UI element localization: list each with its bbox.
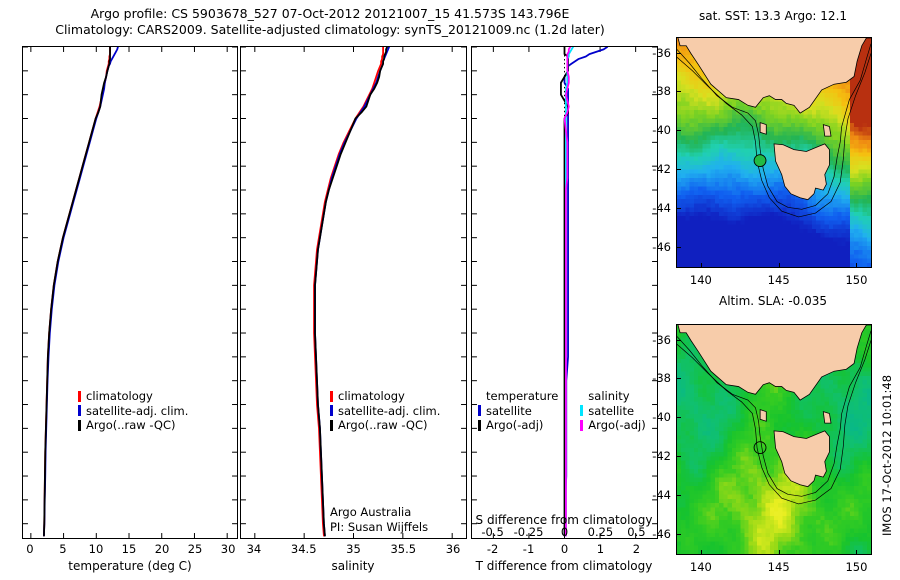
temperature-legend-item-row: climatology bbox=[78, 389, 188, 404]
difference-legend-item-row: Argo(-adj) bbox=[580, 418, 645, 433]
depth-tick-100: 100 bbox=[0, 63, 22, 77]
sst-map-lat-tick: -44 bbox=[652, 201, 676, 215]
sla-map-lat-tickmark bbox=[676, 417, 681, 418]
difference-legend-header: temperature bbox=[486, 389, 558, 404]
imos-timestamp: IMOS 17-Oct-2012 10:01:48 bbox=[880, 375, 894, 536]
depth-tick-800: 800 bbox=[0, 230, 22, 244]
salinity-plot-area bbox=[241, 47, 466, 538]
salinity-tick-34: 34 bbox=[247, 542, 262, 556]
sst-map-lat-tickmark bbox=[676, 53, 681, 54]
t-diff-tick-1: 1 bbox=[597, 542, 604, 556]
depth-tick-1400: 1400 bbox=[0, 374, 22, 388]
difference-legend-item-label: Argo(-adj) bbox=[486, 418, 543, 433]
temperature-legend-item-row: Argo(..raw -QC) bbox=[78, 418, 188, 433]
title-line-2: Climatology: CARS2009. Satellite-adjuste… bbox=[55, 22, 605, 37]
difference-legend-header: salinity bbox=[588, 389, 645, 404]
depth-tick-400: 400 bbox=[0, 135, 22, 149]
difference-legend-column: salinitysatelliteArgo(-adj) bbox=[580, 389, 645, 433]
sla-map-lat-tick: -40 bbox=[652, 410, 676, 424]
sla-map-lat-tickmark bbox=[676, 534, 681, 535]
difference-legend-columns: temperaturesatelliteArgo(-adj)salinitysa… bbox=[478, 389, 646, 433]
s-diff-tick-0: 0 bbox=[561, 525, 568, 539]
depth-tick-1200: 1200 bbox=[0, 326, 22, 340]
legend-color-swatch-icon bbox=[580, 420, 583, 431]
temperature-panel bbox=[22, 46, 238, 539]
salinity-legend-item-row: climatology bbox=[330, 389, 440, 404]
difference-legend: temperaturesatelliteArgo(-adj)salinitysa… bbox=[478, 389, 646, 433]
temperature-tick-25: 25 bbox=[188, 542, 203, 556]
title-line-1: Argo profile: CS 5903678_527 07-Oct-2012… bbox=[91, 6, 570, 21]
difference-legend-column: temperaturesatelliteArgo(-adj) bbox=[478, 389, 558, 433]
difference-panel bbox=[471, 46, 658, 539]
temperature-axis-label: temperature (deg C) bbox=[68, 559, 191, 573]
sst-map-lat-tick: -46 bbox=[652, 240, 676, 254]
legend-color-swatch-icon bbox=[78, 405, 81, 416]
legend-color-swatch-icon bbox=[330, 405, 333, 416]
depth-tick-1800: 1800 bbox=[0, 470, 22, 484]
depth-tick-1900: 1900 bbox=[0, 494, 22, 508]
depth-tick-1700: 1700 bbox=[0, 446, 22, 460]
sst-map-lat-tickmark bbox=[676, 130, 681, 131]
legend-color-swatch-icon bbox=[478, 405, 481, 416]
salinity-panel bbox=[240, 46, 467, 539]
sla-map-lon-tickmark bbox=[856, 550, 857, 555]
difference-legend-item-label: satellite bbox=[588, 404, 634, 419]
sst-map-lat-tick: -38 bbox=[652, 84, 676, 98]
sst-map[interactable] bbox=[676, 37, 872, 268]
s-difference-axis-label: S difference from climatology bbox=[476, 513, 653, 527]
depth-tick-1500: 1500 bbox=[0, 398, 22, 412]
temperature-legend-item-label: Argo(..raw -QC) bbox=[86, 418, 176, 433]
temperature-tick-10: 10 bbox=[89, 542, 104, 556]
sla-map-lat-tickmark bbox=[676, 495, 681, 496]
salinity-axis-label: salinity bbox=[331, 559, 374, 573]
t-difference-axis-label: T difference from climatology bbox=[476, 559, 653, 573]
sst-map-canvas bbox=[677, 38, 871, 267]
temperature-tick-20: 20 bbox=[155, 542, 170, 556]
salinity-legend-item-row: satellite-adj. clim. bbox=[330, 404, 440, 419]
sst-map-lat-tickmark bbox=[676, 247, 681, 248]
temperature-tick-30: 30 bbox=[221, 542, 236, 556]
sst-map-lat-tickmark bbox=[676, 169, 681, 170]
sla-map-lat-tickmark bbox=[676, 456, 681, 457]
t-diff-tick-0: 0 bbox=[561, 542, 568, 556]
depth-tick-2000: 2000 bbox=[0, 518, 22, 532]
salinity-tick-35_5: 35.5 bbox=[390, 542, 416, 556]
salinity-legend-item-label: climatology bbox=[338, 389, 405, 404]
difference-legend-item-label: Argo(-adj) bbox=[588, 418, 645, 433]
legend-color-swatch-icon bbox=[478, 420, 481, 431]
sla-map-canvas bbox=[677, 325, 871, 554]
sla-map-lat-tick: -46 bbox=[652, 527, 676, 541]
depth-tick-1300: 1300 bbox=[0, 350, 22, 364]
difference-plot-area bbox=[472, 47, 657, 538]
temperature-legend-item-label: satellite-adj. clim. bbox=[86, 404, 188, 419]
t-diff-tick-2: 2 bbox=[633, 542, 640, 556]
sla-map-lat-tick: -36 bbox=[652, 333, 676, 347]
sst-map-lat-tick: -42 bbox=[652, 162, 676, 176]
temperature-tick-15: 15 bbox=[122, 542, 137, 556]
legend-color-swatch-icon bbox=[330, 420, 333, 431]
s-diff-tick-_0_25: -0.25 bbox=[514, 525, 544, 539]
sst-map-lon-tickmark bbox=[701, 263, 702, 268]
temperature-tick-0: 0 bbox=[26, 542, 33, 556]
sla-map-lon-tick: 140 bbox=[690, 560, 712, 574]
depth-tick-900: 900 bbox=[0, 254, 22, 268]
sst-map-title: sat. SST: 13.3 Argo: 12.1 bbox=[666, 9, 880, 24]
depth-tick-700: 700 bbox=[0, 207, 22, 221]
figure-title: Argo profile: CS 5903678_527 07-Oct-2012… bbox=[0, 6, 660, 38]
sst-map-lon-tick: 145 bbox=[768, 273, 790, 287]
depth-tick-0: 0 bbox=[0, 39, 22, 53]
temperature-tick-5: 5 bbox=[59, 542, 66, 556]
salinity-tick-35: 35 bbox=[346, 542, 361, 556]
salinity-legend-item-row: Argo(..raw -QC) bbox=[330, 418, 440, 433]
sst-map-lon-tickmark bbox=[856, 263, 857, 268]
argo-profile-figure: Argo profile: CS 5903678_527 07-Oct-2012… bbox=[0, 0, 900, 580]
salinity-legend-item-label: satellite-adj. clim. bbox=[338, 404, 440, 419]
salinity-tick-34_5: 34.5 bbox=[291, 542, 317, 556]
sla-map-lon-tickmark bbox=[779, 550, 780, 555]
legend-color-swatch-icon bbox=[78, 420, 81, 431]
depth-tick-600: 600 bbox=[0, 183, 22, 197]
legend-color-swatch-icon bbox=[78, 391, 81, 402]
sla-map-lon-tick: 150 bbox=[845, 560, 867, 574]
sla-map-lat-tickmark bbox=[676, 340, 681, 341]
sla-map[interactable] bbox=[676, 324, 872, 555]
sla-map-lat-tick: -42 bbox=[652, 449, 676, 463]
sst-map-lat-tickmark bbox=[676, 91, 681, 92]
sst-map-lat-tick: -40 bbox=[652, 123, 676, 137]
depth-tick-1100: 1100 bbox=[0, 302, 22, 316]
t-diff-tick-_1: -1 bbox=[523, 542, 534, 556]
salinity-legend: climatologysatellite-adj. clim.Argo(..ra… bbox=[330, 389, 440, 433]
sst-map-lat-tick: -36 bbox=[652, 46, 676, 60]
depth-tick-500: 500 bbox=[0, 159, 22, 173]
difference-legend-item-label: satellite bbox=[486, 404, 532, 419]
depth-tick-300: 300 bbox=[0, 111, 22, 125]
legend-color-swatch-icon bbox=[580, 405, 583, 416]
depth-tick-1600: 1600 bbox=[0, 422, 22, 436]
s-diff-tick-_0_5: -0.5 bbox=[481, 525, 503, 539]
sla-map-lon-tick: 145 bbox=[768, 560, 790, 574]
salinity-tick-36: 36 bbox=[446, 542, 461, 556]
sst-map-lon-tick: 150 bbox=[845, 273, 867, 287]
sla-map-lat-tickmark bbox=[676, 378, 681, 379]
difference-legend-item-row: Argo(-adj) bbox=[478, 418, 558, 433]
salinity-legend-item-label: Argo(..raw -QC) bbox=[338, 418, 428, 433]
difference-legend-item-row: satellite bbox=[580, 404, 645, 419]
s-diff-tick-0_5: 0.5 bbox=[627, 525, 645, 539]
argo-australia-credit: Argo Australia PI: Susan Wijffels bbox=[330, 505, 428, 534]
sst-map-lon-tick: 140 bbox=[690, 273, 712, 287]
sst-map-lat-tickmark bbox=[676, 208, 681, 209]
sla-title-line-1: Altim. SLA: -0.035 bbox=[719, 294, 827, 308]
depth-tick-1000: 1000 bbox=[0, 278, 22, 292]
t-diff-tick-_2: -2 bbox=[487, 542, 498, 556]
sla-map-lon-tickmark bbox=[701, 550, 702, 555]
sla-map-lat-tick: -44 bbox=[652, 488, 676, 502]
temperature-legend-item-row: satellite-adj. clim. bbox=[78, 404, 188, 419]
temperature-plot-area bbox=[23, 47, 237, 538]
sst-map-lon-tickmark bbox=[779, 263, 780, 268]
difference-legend-item-row: satellite bbox=[478, 404, 558, 419]
temperature-legend: climatologysatellite-adj. clim.Argo(..ra… bbox=[78, 389, 188, 433]
depth-tick-200: 200 bbox=[0, 87, 22, 101]
temperature-legend-item-label: climatology bbox=[86, 389, 153, 404]
legend-color-swatch-icon bbox=[330, 391, 333, 402]
s-diff-tick-0_25: 0.25 bbox=[588, 525, 614, 539]
sla-map-lat-tick: -38 bbox=[652, 371, 676, 385]
